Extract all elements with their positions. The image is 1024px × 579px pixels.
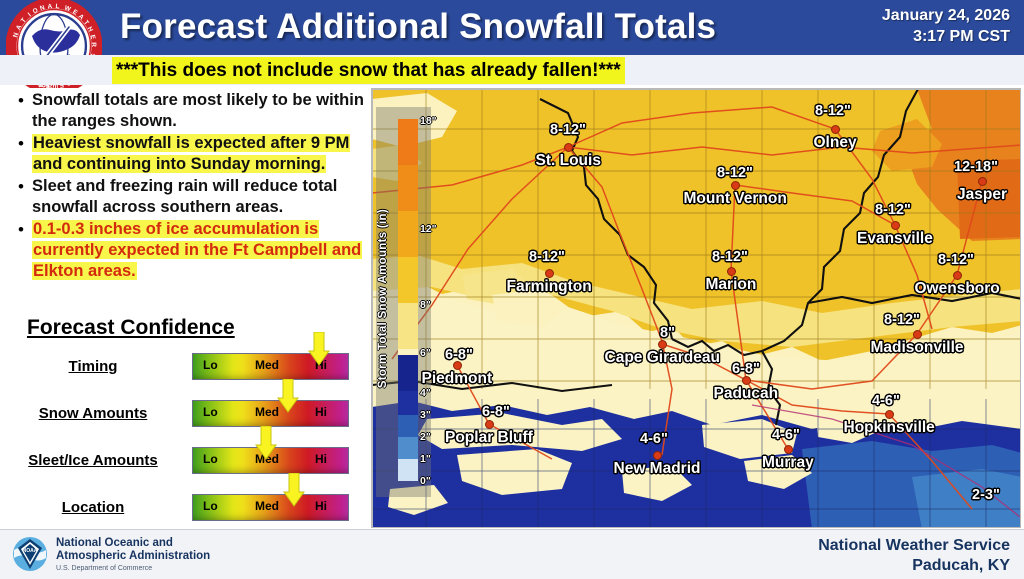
confidence-label: Sleet/Ice Amounts xyxy=(0,452,186,469)
city-marker-dot-icon xyxy=(913,330,922,339)
snow-amount-label: 8-12" xyxy=(712,249,748,265)
colorbar-segment xyxy=(398,355,418,391)
confidence-row-sleet-ice-amounts: Sleet/Ice Amounts Lo Med Hi xyxy=(0,436,370,483)
confidence-scale-bar: Lo Med Hi xyxy=(192,400,349,427)
colorbar-segment xyxy=(398,303,418,349)
colorbar-segment xyxy=(398,459,418,481)
scale-low-label: Lo xyxy=(203,358,218,372)
scale-low-label: Lo xyxy=(203,499,218,513)
city-name-label: Evansville xyxy=(857,230,933,248)
bullet-text: Sleet and freezing rain will reduce tota… xyxy=(32,176,368,218)
office-name: National Weather Service xyxy=(818,536,1010,556)
confidence-row-location: Location Lo Med Hi xyxy=(0,483,370,530)
bullet-dot-icon: • xyxy=(10,219,32,282)
confidence-arrow-icon xyxy=(308,332,330,366)
confidence-scale-bar: Lo Med Hi xyxy=(192,494,349,521)
confidence-arrow-icon xyxy=(283,473,305,507)
city-marker-dot-icon xyxy=(564,143,573,152)
scale-high-label: Hi xyxy=(315,452,327,466)
snow-amount-label: 4-6" xyxy=(772,427,800,443)
city-marker-dot-icon xyxy=(485,420,494,429)
forecast-graphic: N A T I O N A L W E A T H E R S E R V I xyxy=(0,0,1024,579)
city-marker-dot-icon xyxy=(658,340,667,349)
confidence-label: Location xyxy=(0,499,186,516)
confidence-label: Snow Amounts xyxy=(0,405,186,422)
scale-med-label: Med xyxy=(255,358,279,372)
scale-low-label: Lo xyxy=(203,452,218,466)
svg-text:NOAA: NOAA xyxy=(23,548,38,554)
colorbar-tick: 18" xyxy=(420,115,437,127)
colorbar-tick: 6" xyxy=(420,347,431,359)
list-item: • 0.1-0.3 inches of ice accumulation is … xyxy=(10,219,368,282)
city-marker-dot-icon xyxy=(453,361,462,370)
colorbar-segment xyxy=(398,257,418,303)
snow-amount-label: 8-12" xyxy=(550,122,586,138)
bullet-text: 0.1-0.3 inches of ice accumulation is cu… xyxy=(32,219,368,282)
city-name-label: Poplar Bluff xyxy=(445,429,533,447)
city-marker-dot-icon xyxy=(742,376,751,385)
footer-bar: NOAA National Oceanic and Atmospheric Ad… xyxy=(0,529,1024,579)
colorbar-tick: 2" xyxy=(420,431,431,443)
left-panel: • Snowfall totals are most likely to be … xyxy=(0,88,370,528)
city-marker-dot-icon xyxy=(891,221,900,230)
snow-amount-label: 8-12" xyxy=(815,103,851,119)
scale-high-label: Hi xyxy=(315,499,327,513)
noaa-line-1: National Oceanic and xyxy=(56,537,210,550)
snow-amount-label: 4-6" xyxy=(640,431,668,447)
colorbar-tick: 8" xyxy=(420,299,431,311)
colorbar-tick: 4" xyxy=(420,387,431,399)
city-name-label: Jasper xyxy=(957,186,1007,204)
city-marker-dot-icon xyxy=(545,269,554,278)
bullet-list: • Snowfall totals are most likely to be … xyxy=(10,90,368,283)
corner-amount-label: 2-3" xyxy=(972,487,1000,503)
list-item: • Snowfall totals are most likely to be … xyxy=(10,90,368,132)
snowfall-map[interactable]: Storm Total Snow Amounts (in) 18" 12" 8"… xyxy=(371,88,1021,528)
confidence-arrow-icon xyxy=(255,426,277,460)
snow-amount-label: 8-12" xyxy=(938,252,974,268)
snow-amount-label: 8" xyxy=(660,325,675,341)
header-date: January 24, 2026 xyxy=(882,5,1010,26)
snow-amount-label: 6-8" xyxy=(482,404,510,420)
header-time: 3:17 PM CST xyxy=(882,26,1010,47)
bullet-text: Snowfall totals are most likely to be wi… xyxy=(32,90,368,132)
warning-banner-text: ***This does not include snow that has a… xyxy=(112,57,625,84)
city-name-label: Madisonville xyxy=(871,339,964,357)
page-title: Forecast Additional Snowfall Totals xyxy=(120,2,820,52)
snow-amount-label: 8-12" xyxy=(875,202,911,218)
list-item: • Heaviest snowfall is expected after 9 … xyxy=(10,133,368,175)
confidence-arrow-icon xyxy=(277,379,299,413)
city-name-label: Hopkinsville xyxy=(844,419,935,437)
noaa-department-line: U.S. Department of Commerce xyxy=(56,565,152,572)
city-name-label: Murray xyxy=(762,454,814,472)
colorbar-segment xyxy=(398,165,418,211)
snow-amount-label: 8-12" xyxy=(884,312,920,328)
city-name-label: Paducah xyxy=(714,385,779,403)
city-name-label: Owensboro xyxy=(915,280,1000,298)
snow-amount-label: 6-8" xyxy=(732,361,760,377)
city-marker-dot-icon xyxy=(978,177,987,186)
svg-text:R: R xyxy=(90,42,97,47)
city-name-label: New Madrid xyxy=(614,460,701,478)
city-marker-dot-icon xyxy=(784,445,793,454)
colorbar-segment xyxy=(398,391,418,415)
scale-med-label: Med xyxy=(255,499,279,513)
colorbar-tick: 1" xyxy=(420,453,431,465)
snow-amount-label: 8-12" xyxy=(717,165,753,181)
city-name-label: Cape Girardeau xyxy=(605,349,720,367)
city-marker-dot-icon xyxy=(885,410,894,419)
noaa-logo-icon: NOAA xyxy=(12,536,48,572)
noaa-agency-name: National Oceanic and Atmospheric Adminis… xyxy=(56,537,210,563)
confidence-label: Timing xyxy=(0,358,186,375)
scale-low-label: Lo xyxy=(203,405,218,419)
scale-high-label: Hi xyxy=(315,405,327,419)
city-name-label: Mount Vernon xyxy=(684,190,787,208)
city-marker-dot-icon xyxy=(953,271,962,280)
city-marker-dot-icon xyxy=(731,181,740,190)
issuing-office: National Weather Service Paducah, KY xyxy=(818,536,1010,576)
city-name-label: Farmington xyxy=(507,278,592,296)
colorbar-segment xyxy=(398,437,418,459)
svg-text:L: L xyxy=(55,3,60,10)
office-location: Paducah, KY xyxy=(818,556,1010,576)
confidence-row-timing: Timing Lo Med Hi xyxy=(0,342,370,389)
city-marker-dot-icon xyxy=(727,267,736,276)
colorbar-title: Storm Total Snow Amounts (in) xyxy=(377,209,389,388)
list-item: • Sleet and freezing rain will reduce to… xyxy=(10,176,368,218)
snow-amount-label: 4-6" xyxy=(872,393,900,409)
colorbar-segment xyxy=(398,211,418,257)
colorbar-segment xyxy=(398,415,418,437)
colorbar-segment xyxy=(398,119,418,165)
city-name-label: Piedmont xyxy=(422,370,493,388)
noaa-line-2: Atmospheric Administration xyxy=(56,550,210,563)
snow-amount-label: 12-18" xyxy=(954,159,998,175)
city-marker-dot-icon xyxy=(831,125,840,134)
city-name-label: Marion xyxy=(706,276,757,294)
confidence-rows: Timing Lo Med Hi Snow Amounts Lo Med Hi xyxy=(0,342,370,530)
city-name-label: Olney xyxy=(814,134,857,152)
snow-amount-label: 8-12" xyxy=(529,249,565,265)
city-marker-dot-icon xyxy=(653,451,662,460)
colorbar: 18" 12" 8" 6" 4" 3" 2" 1" 0" xyxy=(398,119,418,481)
colorbar-tick: 0" xyxy=(420,475,431,487)
city-name-label: St. Louis xyxy=(536,152,601,170)
header-datetime: January 24, 2026 3:17 PM CST xyxy=(882,5,1010,47)
bullet-dot-icon: • xyxy=(10,176,32,218)
forecast-confidence-title: Forecast Confidence xyxy=(27,316,235,340)
confidence-row-snow-amounts: Snow Amounts Lo Med Hi xyxy=(0,389,370,436)
scale-med-label: Med xyxy=(255,405,279,419)
bullet-dot-icon: • xyxy=(10,133,32,175)
colorbar-tick: 12" xyxy=(420,223,437,235)
bullet-dot-icon: • xyxy=(10,90,32,132)
colorbar-tick: 3" xyxy=(420,409,431,421)
bullet-text: Heaviest snowfall is expected after 9 PM… xyxy=(32,133,368,175)
